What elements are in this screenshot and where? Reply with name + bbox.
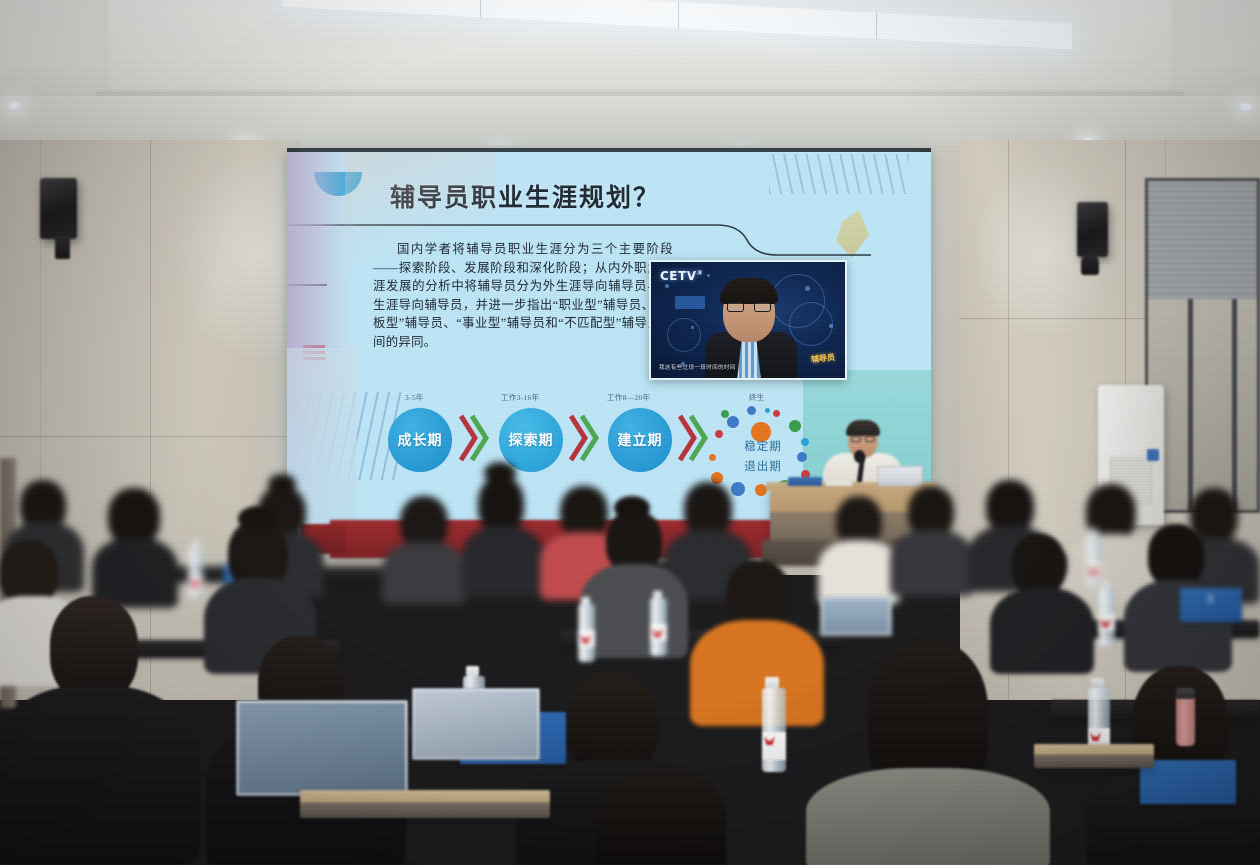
blue-folder[interactable] bbox=[1140, 760, 1236, 804]
microphone-icon bbox=[854, 450, 865, 463]
window-glass bbox=[1148, 299, 1257, 510]
blue-folder[interactable]: 玉 bbox=[1180, 588, 1242, 622]
stage-duration-label: 3-5年 bbox=[405, 392, 424, 403]
final-stage-label-exit: 退出期 bbox=[705, 458, 821, 474]
water-bottle[interactable] bbox=[1086, 536, 1101, 586]
folder-label: 玉 bbox=[1180, 592, 1242, 605]
chevron-right-icon bbox=[459, 412, 489, 464]
audience-table bbox=[300, 790, 550, 818]
projector-warm-tint bbox=[345, 152, 495, 278]
ac-badge bbox=[1147, 449, 1159, 461]
chevron-right-icon bbox=[569, 412, 599, 464]
window-blind[interactable] bbox=[1148, 181, 1257, 299]
audience-laptop[interactable] bbox=[412, 688, 540, 760]
audience-laptop[interactable] bbox=[236, 700, 408, 796]
stage-duration-label: 工作8—20年 bbox=[607, 392, 650, 403]
audience-table bbox=[1034, 744, 1154, 768]
glasses-icon bbox=[727, 302, 771, 312]
video-badge bbox=[675, 296, 705, 309]
stage-circle-growth[interactable]: 成长期 bbox=[388, 408, 452, 472]
video-subtitle: 我这有些过烦一段时间的时间 bbox=[659, 363, 736, 371]
water-bottle[interactable] bbox=[650, 598, 667, 656]
video-person-hair bbox=[720, 278, 778, 304]
lecture-hall-photo: 辅导员职业生涯规划？ 国内学者将辅导员职业生涯分为三个主要阶段——探索阶段、发展… bbox=[0, 0, 1260, 865]
speaker-mount bbox=[1081, 252, 1099, 275]
cetv-logo: CETV③ bbox=[660, 269, 703, 283]
stage-duration-label: 终生 bbox=[749, 392, 765, 403]
presenter-hair bbox=[846, 420, 880, 436]
stage-duration-label: 工作3-16年 bbox=[501, 392, 539, 403]
video-watermark: 辅导员 bbox=[810, 352, 835, 365]
downlight-icon bbox=[6, 100, 23, 111]
wall-speaker-right bbox=[1077, 202, 1108, 257]
downlight-icon bbox=[1237, 101, 1254, 112]
chevron-right-icon bbox=[678, 412, 708, 464]
speaker-mount bbox=[55, 236, 70, 259]
embedded-video[interactable]: CETV③ 我这有些过烦一段时间的时间 辅导员 bbox=[649, 260, 847, 380]
water-bottle[interactable] bbox=[578, 604, 595, 662]
glasses-icon bbox=[851, 436, 875, 442]
wall-speaker-left bbox=[40, 178, 77, 239]
pink-tumbler[interactable] bbox=[1176, 688, 1195, 746]
final-stage-label-stable: 稳定期 bbox=[705, 438, 821, 454]
hatch-decoration-right bbox=[769, 154, 909, 194]
stage-circle-explore[interactable]: 探索期 bbox=[499, 408, 563, 472]
water-bottle[interactable] bbox=[762, 688, 786, 772]
water-bottle[interactable] bbox=[188, 548, 203, 598]
water-bottle[interactable] bbox=[1098, 588, 1115, 646]
ceiling bbox=[0, 0, 1260, 160]
stage-circle-establish[interactable]: 建立期 bbox=[608, 408, 672, 472]
audience-laptop[interactable] bbox=[820, 596, 892, 636]
